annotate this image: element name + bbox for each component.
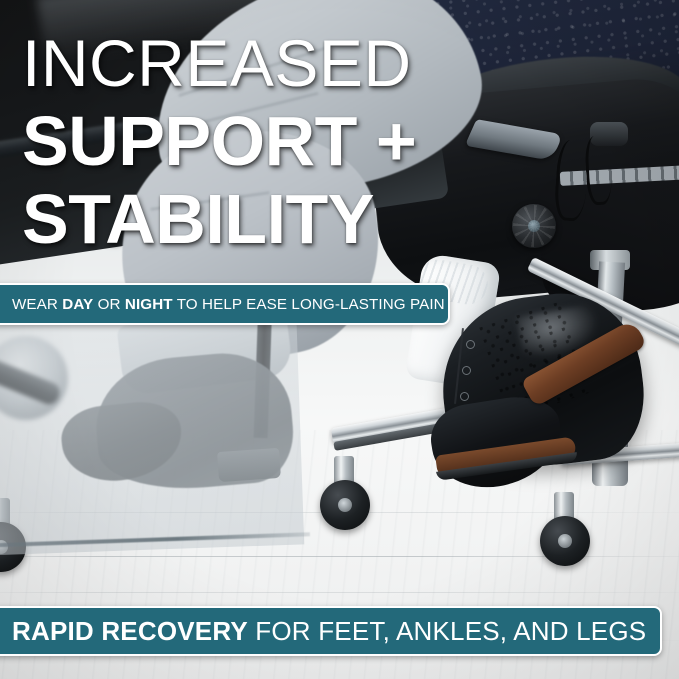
subheadline-text: WEAR DAY OR NIGHT TO HELP EASE LONG-LAST… [12, 296, 445, 313]
subheadline-prefix: WEAR [12, 296, 62, 313]
subheadline-bold-day: DAY [62, 296, 93, 313]
marketing-image: INCREASED SUPPORT + STABILITY WEAR DAY O… [0, 0, 679, 679]
footer-banner-text: RAPID RECOVERY FOR FEET, ANKLES, AND LEG… [12, 616, 646, 647]
headline-line-3: STABILITY [22, 184, 662, 254]
subheadline-banner: WEAR DAY OR NIGHT TO HELP EASE LONG-LAST… [0, 283, 450, 325]
footer-banner: RAPID RECOVERY FOR FEET, ANKLES, AND LEG… [0, 606, 662, 656]
boot-eyelet [462, 366, 471, 375]
headline-line-1: INCREASED [22, 30, 662, 96]
headline-line-2: SUPPORT + [22, 106, 662, 176]
caster-hub [558, 534, 572, 548]
footer-banner-bold: RAPID RECOVERY [12, 616, 248, 646]
subheadline-bold-night: NIGHT [125, 296, 173, 313]
subheadline-middle: OR [93, 296, 125, 313]
glass-panel [0, 294, 304, 555]
footer-banner-rest: FOR FEET, ANKLES, AND LEGS [248, 616, 646, 646]
headline-block: INCREASED SUPPORT + STABILITY [22, 30, 662, 254]
caster-hub [338, 498, 352, 512]
floor-plank-line [0, 592, 679, 593]
boot-eyelet [460, 392, 469, 401]
boot-eyelet [466, 340, 475, 349]
subheadline-suffix: TO HELP EASE LONG-LASTING PAIN [173, 296, 445, 313]
